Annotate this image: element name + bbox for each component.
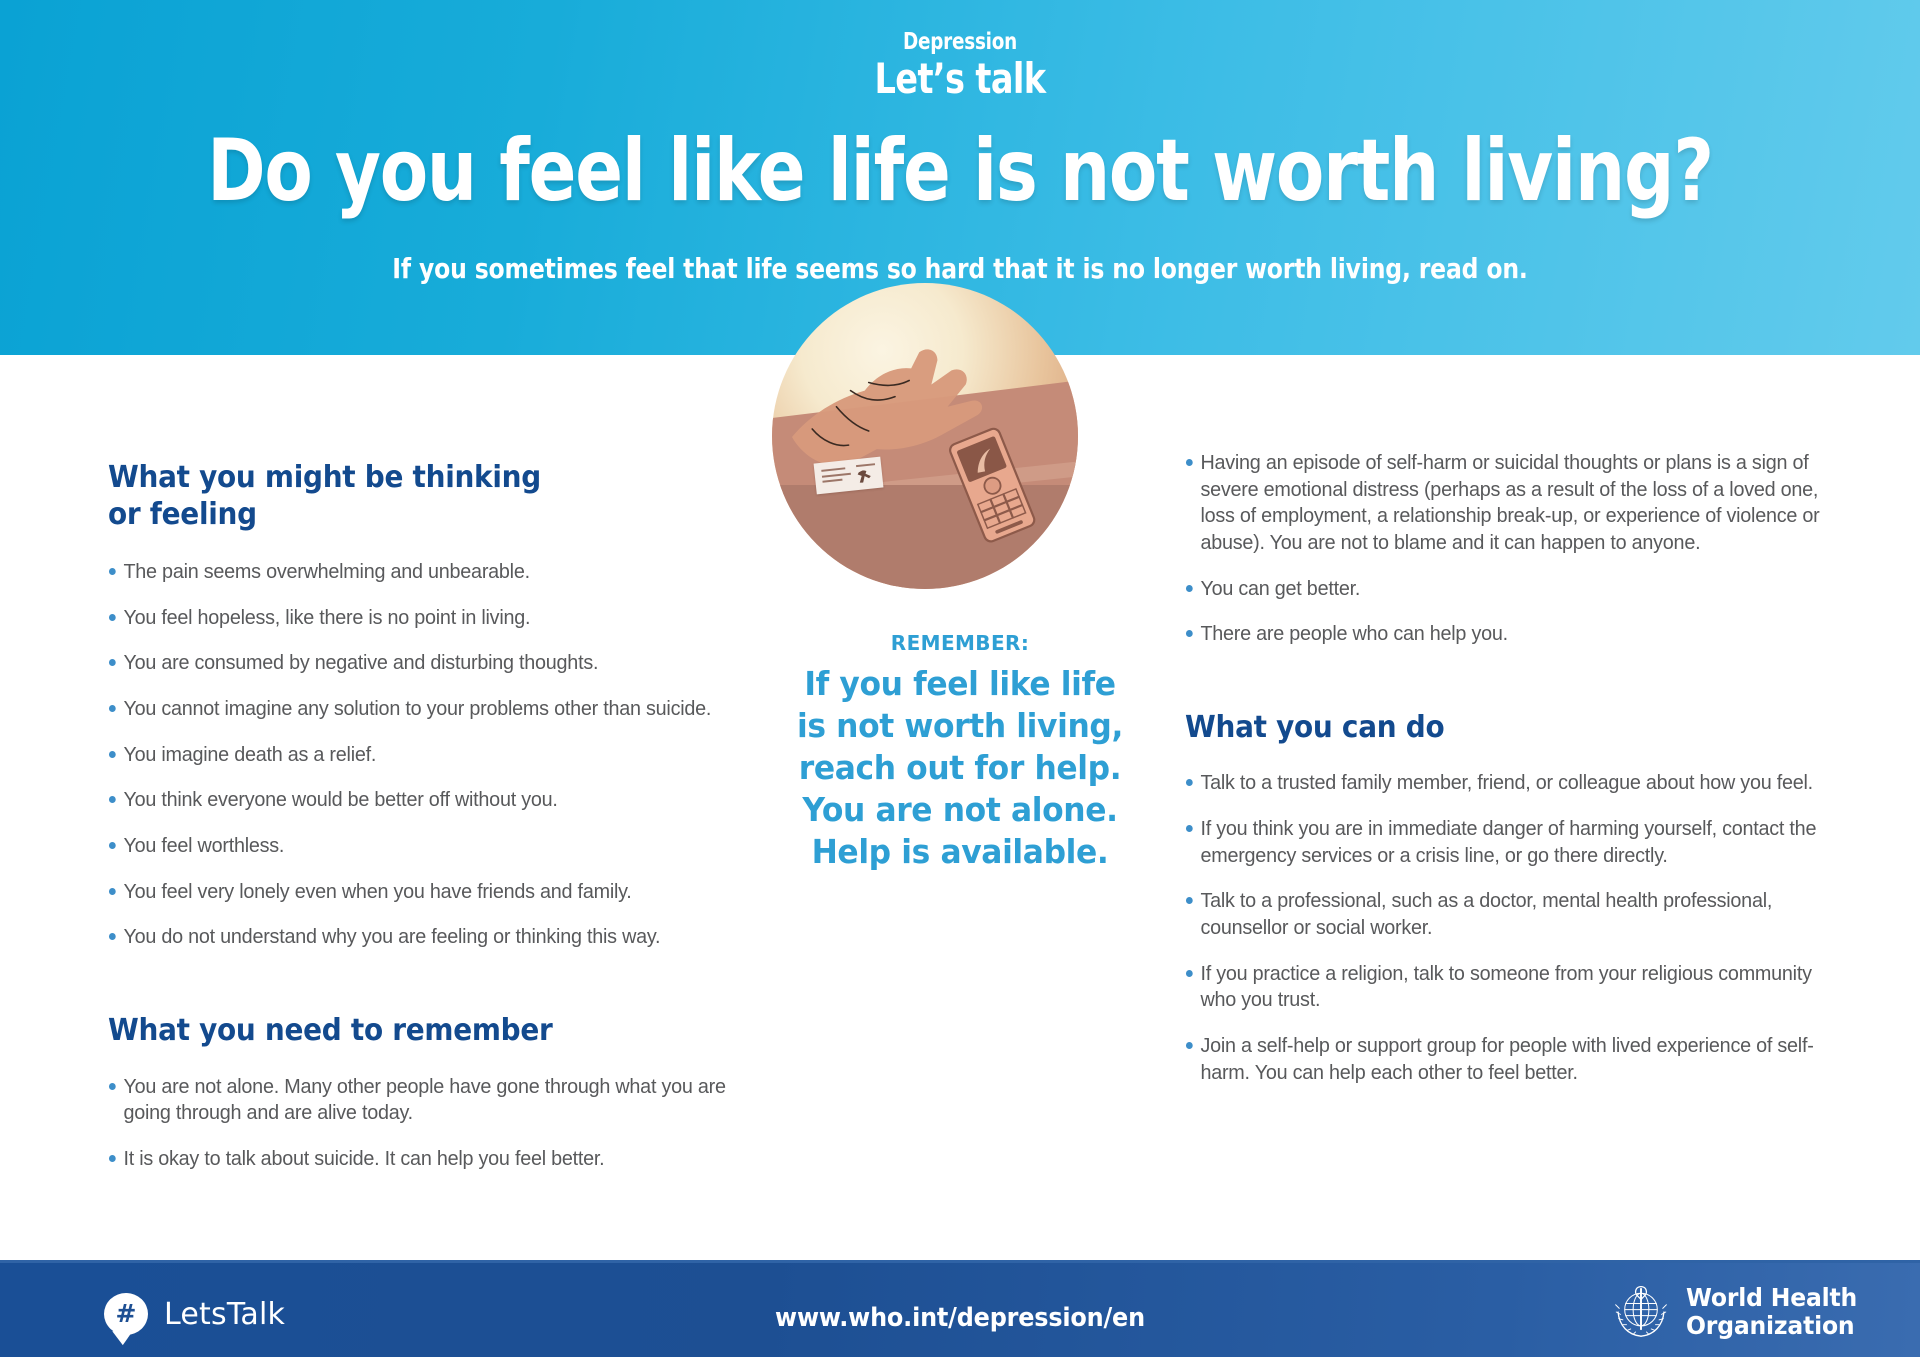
section-spacer [1185,648,1845,710]
list-item: Talk to a trusted family member, friend,… [1185,770,1822,797]
right-column: Having an episode of self-harm or suicid… [1185,450,1845,1086]
who-name-line-1: World Health [1686,1284,1857,1312]
section-title-need-to-remember: What you need to remember [108,1013,722,1050]
what-you-can-do-list: Talk to a trusted family member, friend,… [1185,770,1845,1086]
left-column: What you might be thinking or feeling Th… [108,460,768,1172]
list-item: You think everyone would be better off w… [108,787,745,814]
list-item: Join a self-help or support group for pe… [1185,1033,1822,1086]
who-name-line-2: Organization [1686,1312,1857,1340]
card-line [822,479,842,483]
list-item: It is okay to talk about suicide. It can… [108,1146,745,1173]
remember-label: REMEMBER: [770,631,1150,655]
remember-callout: REMEMBER: If you feel like life is not w… [770,631,1150,873]
list-item: You are not alone. Many other people hav… [108,1074,745,1127]
list-item: You cannot imagine any solution to your … [108,696,745,723]
section-title-line-1: What you might be thinking [108,460,541,495]
remember-line: is not worth living, [797,706,1123,745]
brand-lockup: Depression Let’s talk [0,30,1920,102]
card-line [821,468,845,473]
list-item: If you practice a religion, talk to some… [1185,961,1822,1014]
list-item: You feel hopeless, like there is no poin… [108,605,745,632]
page-title: Do you feel like life is not worth livin… [173,128,1747,214]
who-emblem-icon [1610,1283,1672,1341]
footer-bar: # LetsTalk www.who.int/depression/en [0,1260,1920,1357]
list-item: Having an episode of self-harm or suicid… [1185,450,1822,557]
section-spacer [108,951,768,1013]
self-harm-info-list: Having an episode of self-harm or suicid… [1185,450,1845,648]
list-item: Talk to a professional, such as a doctor… [1185,888,1822,941]
poster-root: Depression Let’s talk Do you feel like l… [0,0,1920,1357]
content-area: What you might be thinking or feeling Th… [0,355,1920,1260]
list-item: You can get better. [1185,576,1822,603]
card-figure-icon [856,470,873,484]
list-item: You feel worthless. [108,833,745,860]
remember-line: reach out for help. [799,748,1121,787]
need-to-remember-list: You are not alone. Many other people hav… [108,1074,768,1173]
who-wordmark: World Health Organization [1686,1284,1857,1340]
section-title-line-2: or feeling [108,497,257,532]
brand-campaign-slogan: Let’s talk [192,56,1728,102]
page-subtitle: If you sometimes feel that life seems so… [154,252,1767,285]
section-title-what-you-can-do: What you can do [1185,710,1799,747]
card-line [856,464,875,468]
remember-line: You are not alone. [802,790,1117,829]
remember-line: If you feel like life [804,664,1115,703]
who-logo: World Health Organization [1610,1283,1868,1341]
list-item: You do not understand why you are feelin… [108,924,745,951]
list-item: If you think you are in immediate danger… [1185,816,1822,869]
list-item: The pain seems overwhelming and unbearab… [108,559,745,586]
brand-campaign-topic: Depression [192,30,1728,54]
list-item: You feel very lonely even when you have … [108,879,745,906]
list-item: You imagine death as a relief. [108,742,745,769]
remember-message: If you feel like life is not worth livin… [780,663,1141,873]
hand-and-phone-illustration [772,283,1078,589]
thinking-feeling-list: The pain seems overwhelming and unbearab… [108,559,768,951]
footer-url[interactable]: www.who.int/depression/en [77,1303,1843,1333]
list-item: You are consumed by negative and disturb… [108,650,745,677]
card-line [821,473,851,478]
remember-line: Help is available. [812,832,1109,871]
list-item: There are people who can help you. [1185,621,1822,648]
section-title-thinking-feeling: What you might be thinking or feeling [108,460,722,533]
